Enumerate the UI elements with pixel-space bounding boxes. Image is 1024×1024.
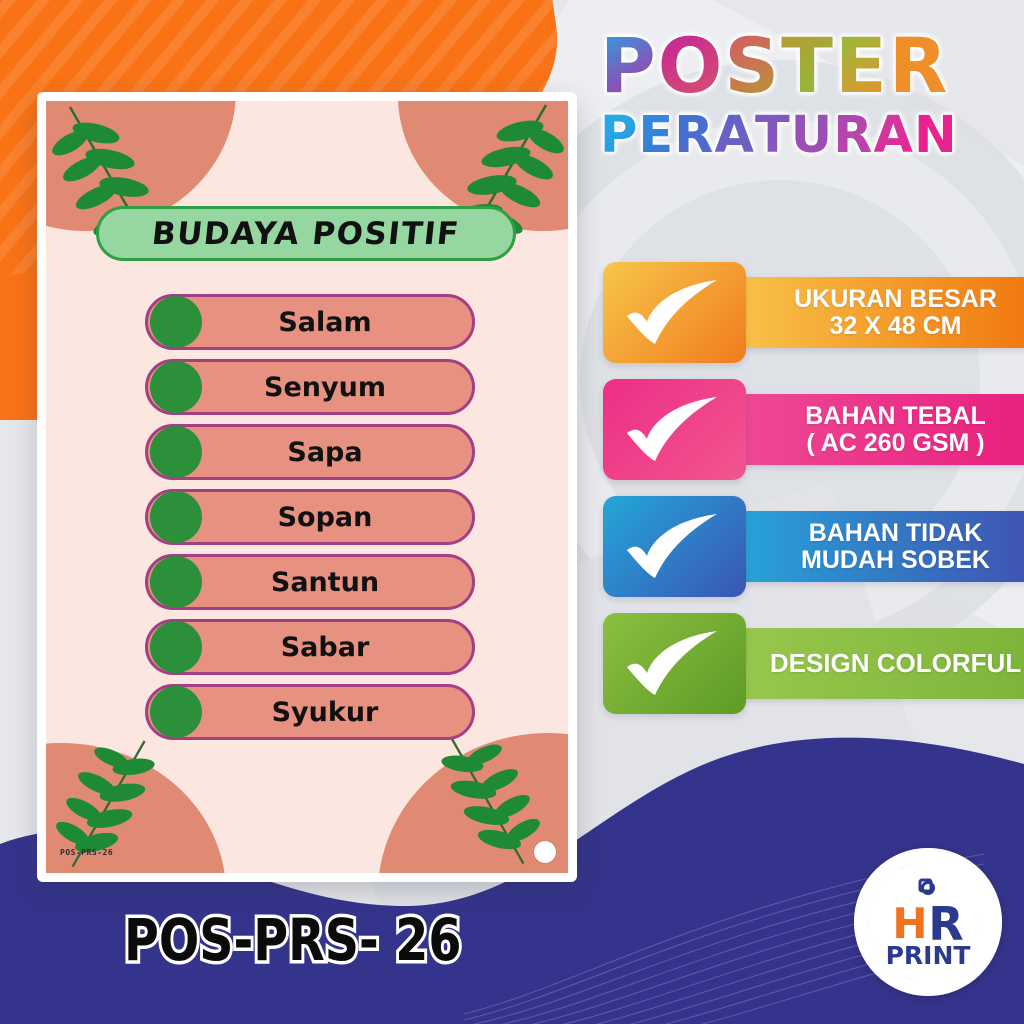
feature-ribbon: BAHAN TEBAL ( AC 260 GSM )	[713, 394, 1024, 465]
headline-line-1: POSTER	[600, 28, 1020, 104]
headline-letter: R	[833, 110, 873, 161]
list-item: Sabar	[145, 619, 475, 675]
list-item: Santun	[145, 554, 475, 610]
poster-title: BUDAYA POSITIF	[150, 216, 461, 252]
feature-ribbon: DESIGN COLORFUL	[713, 628, 1024, 699]
check-icon	[621, 278, 729, 348]
feature-line-2: MUDAH SOBEK	[757, 547, 1024, 574]
feature-badge: BAHAN TIDAK MUDAH SOBEK	[603, 496, 1024, 597]
brand-logo: H R PRINT	[854, 848, 1002, 996]
poster-corner-code: POS-PRS-26	[60, 848, 113, 857]
list-item: Senyum	[145, 359, 475, 415]
headline-letter: U	[791, 110, 833, 161]
logo-wordmark: PRINT	[886, 941, 971, 970]
feature-text: BAHAN TEBAL ( AC 260 GSM )	[713, 403, 1024, 457]
bullet-dot-icon	[150, 621, 202, 673]
headline-letter: O	[658, 28, 725, 104]
feature-badge: BAHAN TEBAL ( AC 260 GSM )	[603, 379, 1024, 480]
feature-line-1: DESIGN COLORFUL	[770, 648, 1021, 678]
headline-letter: A	[874, 110, 914, 161]
list-item: Sopan	[145, 489, 475, 545]
list-item: Syukur	[145, 684, 475, 740]
bullet-dot-icon	[150, 361, 202, 413]
feature-ribbon: BAHAN TIDAK MUDAH SOBEK	[713, 511, 1024, 582]
headline-letter: P	[600, 110, 638, 161]
bullet-dot-icon	[150, 556, 202, 608]
check-icon	[621, 512, 729, 582]
poster-watermark-logo	[534, 841, 556, 863]
feature-text: BAHAN TIDAK MUDAH SOBEK	[713, 520, 1024, 574]
feature-ribbon: UKURAN BESAR 32 X 48 CM	[713, 277, 1024, 348]
headline-block: POSTER PERATURAN	[600, 28, 1020, 161]
poster-value-list: Salam Senyum Sapa Sopan Santun	[145, 294, 475, 749]
headline-letter: E	[638, 110, 674, 161]
list-item: Salam	[145, 294, 475, 350]
product-code: POS-PRS- 26	[124, 906, 462, 974]
headline-letter: T	[755, 110, 791, 161]
headline-letter: S	[724, 28, 781, 104]
feature-text: UKURAN BESAR 32 X 48 CM	[713, 286, 1024, 340]
poster-title-pill: BUDAYA POSITIF	[96, 206, 516, 261]
bullet-dot-icon	[150, 426, 202, 478]
feature-badge: UKURAN BESAR 32 X 48 CM	[603, 262, 1024, 363]
headline-letter: T	[781, 28, 835, 104]
feature-line-1: BAHAN TEBAL	[805, 402, 986, 430]
check-icon	[621, 395, 729, 465]
headline-line-2: PERATURAN	[600, 110, 1020, 161]
headline-letter: E	[835, 28, 889, 104]
feature-badge-list: UKURAN BESAR 32 X 48 CM BAHAN TEBAL ( AC…	[603, 262, 1024, 730]
feature-badge: DESIGN COLORFUL	[603, 613, 1024, 714]
headline-letter: R	[674, 110, 714, 161]
list-item: Sapa	[145, 424, 475, 480]
headline-letter: R	[889, 28, 950, 104]
bullet-dot-icon	[150, 686, 202, 738]
feature-line-2: ( AC 260 GSM )	[757, 430, 1024, 457]
poster-artboard: BUDAYA POSITIF Salam Senyum Sapa	[46, 101, 568, 873]
feature-line-1: BAHAN TIDAK	[809, 519, 983, 547]
headline-letter: P	[600, 28, 658, 104]
feature-line-2: 32 X 48 CM	[757, 313, 1024, 340]
bullet-dot-icon	[150, 491, 202, 543]
feature-text: DESIGN COLORFUL	[713, 649, 1024, 677]
poster-preview-card: BUDAYA POSITIF Salam Senyum Sapa	[37, 92, 577, 882]
feature-line-1: UKURAN BESAR	[794, 285, 997, 313]
headline-letter: N	[914, 110, 958, 161]
product-listing-image: BUDAYA POSITIF Salam Senyum Sapa	[0, 0, 1024, 1024]
bullet-dot-icon	[150, 296, 202, 348]
check-icon	[621, 629, 729, 699]
headline-letter: A	[715, 110, 755, 161]
